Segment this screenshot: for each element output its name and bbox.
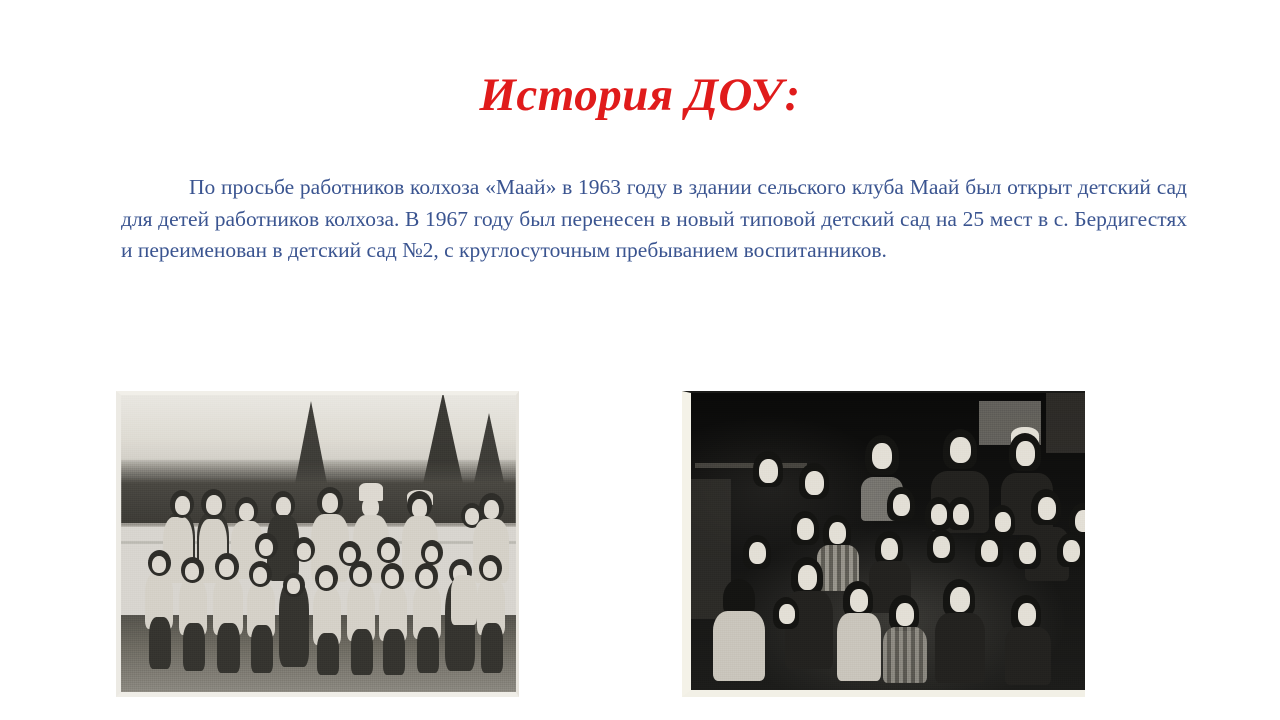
- person-face: [362, 497, 379, 517]
- person-face: [343, 547, 356, 563]
- person-face: [896, 603, 914, 626]
- person-face: [1038, 497, 1056, 520]
- person-face: [239, 503, 254, 521]
- person-face: [779, 604, 795, 624]
- person-face: [931, 504, 947, 525]
- person-face: [953, 504, 969, 525]
- person-face: [872, 443, 892, 469]
- child-legs: [149, 617, 171, 669]
- person-face: [152, 556, 166, 573]
- person-face: [353, 567, 367, 584]
- photo-indoor-content: [691, 393, 1085, 690]
- person-face: [759, 459, 778, 483]
- person-face: [1018, 603, 1036, 626]
- person-face: [850, 589, 868, 612]
- person-figure: [713, 611, 765, 681]
- person-face: [995, 512, 1011, 532]
- person-figure: [935, 613, 985, 683]
- person-face: [797, 518, 814, 540]
- person-figure: [837, 613, 881, 681]
- child-legs: [417, 627, 439, 673]
- person-face: [253, 567, 267, 584]
- body-text-block: По просьбе работников колхоза «Маай» в 1…: [121, 172, 1187, 267]
- person-face: [1063, 540, 1080, 562]
- person-face: [805, 471, 824, 495]
- person-face: [484, 500, 499, 519]
- history-paragraph: По просьбе работников колхоза «Маай» в 1…: [121, 172, 1187, 267]
- person-face: [185, 563, 199, 580]
- person-face: [829, 522, 846, 544]
- shelf: [695, 463, 807, 468]
- child-legs: [351, 629, 373, 675]
- person-face: [950, 437, 971, 463]
- person-face: [206, 495, 222, 515]
- person-face: [749, 542, 766, 564]
- person-face: [981, 540, 998, 562]
- photo-outdoor-content: [121, 395, 516, 692]
- person-face: [1019, 542, 1036, 564]
- slide-canvas: История ДОУ: По просьбе работников колхо…: [0, 0, 1280, 720]
- child-legs: [317, 633, 339, 675]
- person-face: [798, 565, 817, 590]
- person-face: [1016, 441, 1035, 466]
- person-face: [276, 497, 291, 516]
- person-face: [287, 578, 300, 594]
- child-legs: [251, 625, 273, 673]
- person-face: [297, 543, 311, 560]
- person-figure: [1005, 627, 1051, 685]
- person-face: [950, 587, 970, 612]
- page-title: История ДОУ:: [0, 68, 1280, 122]
- person-face: [933, 536, 950, 558]
- wall-picture-frame: [1046, 393, 1085, 453]
- person-face: [893, 494, 910, 516]
- person-face: [175, 496, 190, 515]
- person-face: [881, 538, 898, 560]
- person-face: [385, 569, 399, 586]
- person-face: [319, 571, 333, 588]
- child-legs: [481, 623, 503, 673]
- person-face: [259, 539, 273, 556]
- person-face: [425, 546, 438, 562]
- child-legs: [383, 629, 405, 675]
- person-face: [219, 559, 234, 577]
- person-figure: [883, 627, 927, 683]
- person-face: [483, 561, 497, 578]
- photo-kindergarten-outdoor: [116, 391, 519, 697]
- person-face: [322, 493, 338, 513]
- child-figure: [451, 575, 477, 625]
- person-face: [381, 543, 395, 560]
- child-legs: [217, 623, 240, 673]
- photo-kindergarten-indoor: [682, 391, 1085, 697]
- person-face: [419, 569, 433, 586]
- child-legs: [183, 623, 205, 671]
- person-face: [1075, 510, 1085, 532]
